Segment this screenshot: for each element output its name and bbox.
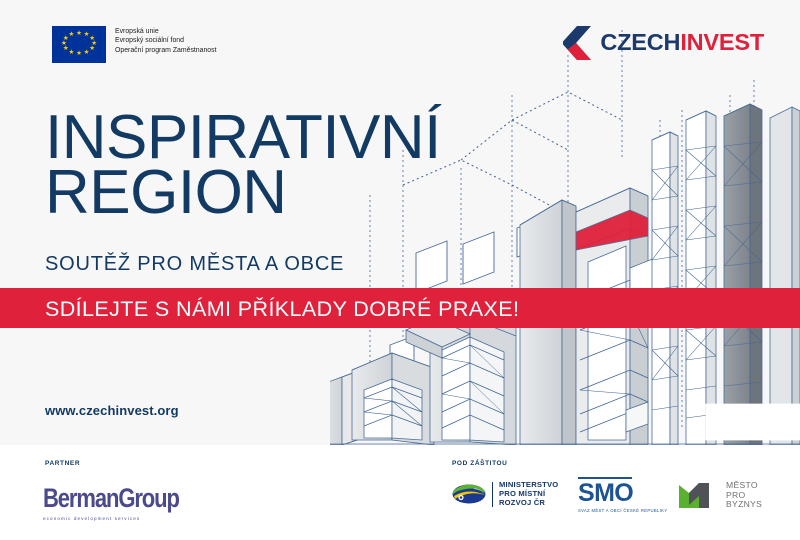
eu-flag-icon: ★ ★ ★ ★ ★ ★ ★ ★ ★ ★ ★ ★: [52, 26, 106, 63]
website-url[interactable]: www.czechinvest.org: [45, 403, 179, 418]
eu-line-3: Operační program Zaměstnanost: [115, 46, 217, 55]
page-subtitle: SOUTĚŽ PRO MĚSTA A OBCE: [45, 253, 344, 276]
mesto-pro-byznys-text: MĚSTO PRO BYZNYS: [726, 481, 762, 510]
ministerstvo-pro-mistni-rozvoj-icon: [452, 482, 486, 506]
page-title-line-1: INSPIRATIVNÍ: [45, 110, 441, 165]
czechinvest-wordmark: CZECHINVEST: [600, 31, 764, 55]
ministerstvo-pro-mistni-rozvoj-logo: MINISTERSTVO PRO MÍSTNÍ ROZVOJ ČR: [452, 481, 558, 508]
bermangroup-logo: BermanGroup economic development service…: [43, 485, 179, 521]
mesto-pro-byznys-icon: [678, 481, 720, 509]
czechinvest-word-czech: CZECH: [600, 29, 680, 55]
eu-line-1: Evropská unie: [115, 27, 217, 36]
czechinvest-arrow-icon: [563, 26, 593, 60]
mesto-pro-byznys-logo: MĚSTO PRO BYZNYS: [678, 481, 762, 510]
auspices-label: POD ZÁŠTITOU: [452, 460, 507, 467]
partner-label: PARTNER: [45, 460, 80, 467]
bermangroup-tagline: economic development services: [43, 516, 179, 521]
poster: SDÍLEJTE S NÁMI PŘÍKLADY DOBRÉ PRAXE! ★ …: [0, 0, 800, 540]
czechinvest-logo: CZECHINVEST: [563, 26, 764, 60]
architecture-blueprint-illustration: [330, 0, 800, 450]
page-title: INSPIRATIVNÍ REGION: [45, 110, 441, 220]
smo-name: SMO: [578, 479, 633, 507]
page-title-line-2: REGION: [45, 165, 441, 220]
smo-logo: SMO SVAZ MĚST A OBCÍ ČESKÉ REPUBLIKY: [578, 481, 667, 513]
smo-tagline: SVAZ MĚST A OBCÍ ČESKÉ REPUBLIKY: [578, 508, 667, 513]
czechinvest-word-invest: INVEST: [680, 29, 764, 55]
eu-funding-text: Evropská unie Evropský sociální fond Ope…: [115, 26, 217, 55]
eu-line-2: Evropský sociální fond: [115, 36, 217, 45]
bermangroup-name: BermanGroup: [43, 485, 179, 512]
tagline-text: SDÍLEJTE S NÁMI PŘÍKLADY DOBRÉ PRAXE!: [45, 297, 519, 322]
smo-wordmark: SMO: [578, 481, 667, 506]
divider: [492, 482, 493, 507]
mpb-line-3: BYZNYS: [726, 500, 762, 510]
ministerstvo-text: MINISTERSTVO PRO MÍSTNÍ ROZVOJ ČR: [499, 481, 558, 508]
footer: PARTNER POD ZÁŠTITOU BermanGroup economi…: [0, 445, 800, 540]
ministerstvo-line-3: ROZVOJ ČR: [499, 499, 558, 508]
eu-funding-logo: ★ ★ ★ ★ ★ ★ ★ ★ ★ ★ ★ ★ Evropská unie Ev…: [52, 26, 217, 63]
